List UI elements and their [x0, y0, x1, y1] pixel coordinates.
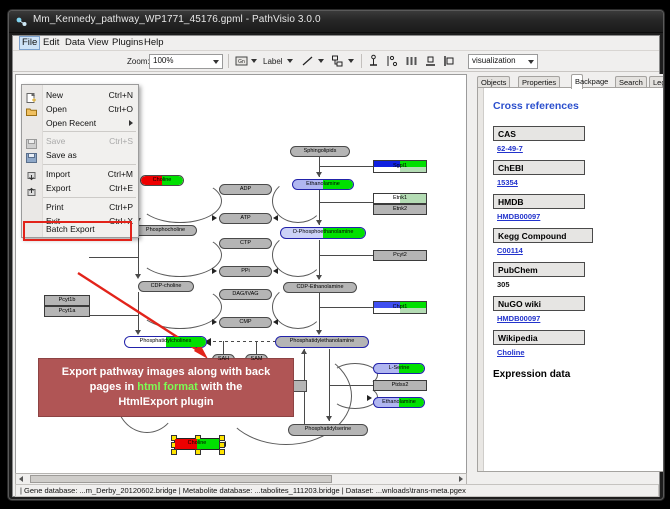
- menu-item-label: Open Recent: [46, 118, 96, 128]
- xref-source-pubchem: PubChem: [493, 262, 585, 277]
- node-phosphatidylserine[interactable]: Phosphatidylserine: [288, 424, 368, 436]
- cross-references-heading: Cross references: [493, 100, 664, 112]
- node-label: Pcyt1a: [59, 309, 76, 315]
- node-label: Choline: [153, 178, 172, 184]
- menu-item-label: Save: [46, 136, 65, 146]
- import-icon: [26, 169, 37, 179]
- arrow-down-icon: [316, 330, 322, 335]
- menu-view[interactable]: View: [85, 37, 111, 49]
- menu-item-shortcut: Ctrl+O: [108, 104, 133, 114]
- menu-item-shortcut: Ctrl+P: [109, 202, 133, 212]
- selection-handle[interactable]: [195, 449, 201, 455]
- interaction-icon[interactable]: [331, 54, 344, 68]
- menu-item-label: Save as: [46, 150, 77, 160]
- menu-item-shortcut: Ctrl+N: [109, 90, 133, 100]
- xref-value-hmdb[interactable]: HMDB00097: [497, 212, 664, 221]
- menu-item-shortcut: Ctrl+S: [109, 136, 133, 146]
- new-file-icon: [26, 90, 37, 100]
- pathvisio-app-icon: [15, 15, 28, 28]
- folder-icon: [26, 104, 37, 114]
- distribute-horizontal-icon[interactable]: [405, 54, 418, 68]
- xref-source-cas: CAS: [493, 126, 585, 141]
- node-ctp[interactable]: CTP: [219, 238, 272, 249]
- toolbar-separator: [228, 54, 229, 68]
- chevron-down-icon: [213, 60, 219, 64]
- edge-etnk: [319, 202, 373, 203]
- xref-value-nugo[interactable]: HMDB00097: [497, 314, 664, 323]
- node-phosphocholine[interactable]: Phosphocholine: [134, 225, 197, 236]
- node-ethanolamine-2[interactable]: Ethanolamine: [373, 397, 425, 408]
- node-label: Phosphatidylcholines: [140, 339, 192, 345]
- callout-line-2: pages in html format with the: [90, 380, 243, 395]
- selection-handle[interactable]: [219, 435, 225, 441]
- xref-value-kegg[interactable]: C00114: [497, 246, 664, 255]
- node-label: PPi: [241, 269, 250, 275]
- scroll-right-arrow-icon[interactable]: [459, 476, 463, 482]
- export-icon: [26, 183, 37, 193]
- edge-sgpl1: [319, 166, 373, 167]
- node-sphingolipids[interactable]: Sphingolipids: [290, 146, 350, 157]
- xref-source-wikipedia: Wikipedia: [493, 330, 585, 345]
- svg-text:Gn: Gn: [238, 59, 245, 65]
- menu-edit[interactable]: Edit: [40, 37, 62, 49]
- node-etnk1[interactable]: Etnk1: [373, 193, 427, 204]
- side-panel-tabs: Objects Properties Backpage Search Legen…: [477, 74, 664, 88]
- status-bar: | Gene database: ...m_Derby_20120602.bri…: [15, 484, 659, 497]
- loop-right-2: [272, 233, 324, 277]
- node-label: SAH: [218, 357, 229, 363]
- toolbar-separator: [361, 54, 362, 68]
- menu-item-label: Export: [46, 183, 71, 193]
- node-label: ATP: [240, 216, 250, 222]
- node-ethanolamine[interactable]: Ethanolamine: [292, 179, 354, 190]
- menu-item-open[interactable]: Open Ctrl+O: [22, 102, 138, 116]
- label-dropdown-arrow[interactable]: [287, 59, 293, 63]
- interaction-dropdown-arrow[interactable]: [348, 59, 354, 63]
- node-label: Etnk2: [393, 207, 407, 213]
- xref-source-chebi: ChEBI: [493, 160, 585, 175]
- chevron-down-icon: [528, 60, 534, 64]
- arrow-down-icon: [316, 172, 322, 177]
- node-label: ADP: [240, 187, 251, 193]
- node-l-serine[interactable]: L-Serine: [373, 363, 425, 374]
- node-label: L-Serine: [389, 366, 410, 372]
- callout-line2-after: with the: [198, 381, 243, 393]
- datanode-icon[interactable]: Gn: [235, 54, 248, 68]
- menu-item-export[interactable]: Export Ctrl+E: [22, 181, 138, 195]
- node-label: SAM: [251, 357, 263, 363]
- selection-handle[interactable]: [171, 449, 177, 455]
- side-panel: Objects Properties Backpage Search Legen…: [471, 74, 664, 472]
- menu-item-label: Open: [46, 104, 67, 114]
- callout-line-1: Export pathway images along with back: [62, 365, 270, 380]
- menu-item-label: New: [46, 90, 63, 100]
- menu-item-open-recent[interactable]: Open Recent: [22, 116, 138, 130]
- zoom-combobox[interactable]: 100%: [149, 54, 223, 69]
- node-cdp-ethanolamine[interactable]: CDP-Ethanolamine: [283, 282, 357, 293]
- menu-item-save-as[interactable]: Save as: [22, 148, 138, 162]
- backpage-content: Cross references CAS 62-49-7 ChEBI 15354…: [485, 88, 664, 471]
- menu-item-print[interactable]: Print Ctrl+P: [22, 200, 138, 214]
- menu-file[interactable]: File: [19, 36, 40, 50]
- arrow-left-icon: [273, 268, 278, 274]
- annotation-callout: Export pathway images along with back pa…: [38, 358, 294, 417]
- status-text: | Gene database: ...m_Derby_20120602.bri…: [20, 486, 466, 495]
- selection-handle[interactable]: [219, 449, 225, 455]
- callout-highlight: html format: [137, 381, 198, 393]
- save-as-icon: [26, 150, 37, 160]
- node-pcyt2[interactable]: Pcyt2: [373, 250, 427, 261]
- node-label: CDP-choline: [151, 284, 182, 290]
- node-label: Chpt1: [393, 305, 408, 311]
- edge-chpt1: [319, 307, 373, 308]
- title-bar: Mm_Kennedy_pathway_WP1771_45176.gpml - P…: [9, 11, 663, 33]
- node-label: Sgpl1: [393, 164, 407, 170]
- backpage-scrollbar[interactable]: [478, 88, 484, 471]
- menu-item-shortcut: Ctrl+E: [109, 183, 133, 193]
- zoom-value: 100%: [153, 56, 173, 65]
- node-choline-selected[interactable]: Choline: [174, 438, 220, 450]
- label-tool-label: Label: [263, 57, 283, 66]
- xref-source-kegg: Kegg Compound: [493, 228, 593, 243]
- node-ptdss2[interactable]: Ptdss2: [373, 380, 427, 391]
- arrow-left-icon: [273, 215, 278, 221]
- edge-pcyt2: [319, 255, 373, 256]
- node-label: Etnk1: [393, 196, 407, 202]
- selection-handle[interactable]: [219, 442, 225, 448]
- node-sgpl1[interactable]: Sgpl1: [373, 160, 427, 173]
- node-label: Pcyt2: [393, 253, 407, 259]
- datanode-dropdown-arrow[interactable]: [251, 59, 257, 63]
- screenshot-root: Mm_Kennedy_pathway_WP1771_45176.gpml - P…: [0, 0, 670, 509]
- arrow-down-icon: [316, 275, 322, 280]
- node-ppi[interactable]: PPi: [219, 266, 272, 277]
- callout-line-3: HtmlExport plugin: [118, 395, 213, 410]
- menu-item-save: Save Ctrl+S: [22, 134, 138, 148]
- xref-source-hmdb: HMDB: [493, 194, 585, 209]
- callout-line2-before: pages in: [90, 381, 138, 393]
- arrow-right-icon: [212, 215, 217, 221]
- edge-cofactor: [89, 257, 138, 258]
- backpage-panel: Cross references CAS 62-49-7 ChEBI 15354…: [477, 87, 664, 472]
- tab-backpage[interactable]: Backpage: [571, 74, 583, 89]
- line-icon[interactable]: [301, 54, 314, 68]
- visualization-combobox[interactable]: visualization: [468, 54, 538, 69]
- node-label: O-Phosphoethanolamine: [293, 230, 354, 236]
- node-label: CTP: [240, 241, 251, 247]
- save-icon: [26, 136, 37, 146]
- menu-separator: [43, 197, 136, 198]
- node-o-phosphoethanolamine[interactable]: O-Phosphoethanolamine: [280, 227, 366, 239]
- arrow-right-icon: [367, 395, 372, 401]
- node-etnk2[interactable]: Etnk2: [373, 204, 427, 215]
- window-title: Mm_Kennedy_pathway_WP1771_45176.gpml - P…: [33, 14, 321, 25]
- zoom-label: Zoom:: [127, 57, 150, 66]
- menu-item-new[interactable]: New Ctrl+N: [22, 88, 138, 102]
- pathvisio-window: Mm_Kennedy_pathway_WP1771_45176.gpml - P…: [8, 10, 664, 500]
- line-dropdown-arrow[interactable]: [318, 59, 324, 63]
- align-top-icon[interactable]: [367, 54, 380, 68]
- stack-left-icon[interactable]: [443, 54, 456, 68]
- menu-item-label: Import: [46, 169, 70, 179]
- hscroll-thumb[interactable]: [30, 475, 332, 483]
- arrow-down-icon: [316, 220, 322, 225]
- xref-value-pubchem: 305: [497, 280, 664, 289]
- node-label: DAG/IVAG: [232, 292, 258, 298]
- visualization-value: visualization: [472, 56, 516, 65]
- xref-value-chebi[interactable]: 15354: [497, 178, 664, 187]
- align-left-icon[interactable]: [386, 54, 399, 68]
- xref-value-wikipedia[interactable]: Choline: [497, 348, 664, 357]
- reaction-anchor: [292, 380, 307, 392]
- tool-bar: Zoom: 100% Gn Label: [13, 51, 659, 72]
- menu-item-shortcut: Ctrl+M: [108, 169, 133, 179]
- menu-help[interactable]: Help: [141, 37, 167, 49]
- batch-export-highlight: [23, 221, 132, 241]
- node-phosphatidylethanolamine[interactable]: Phosphatidylethanolamine: [275, 336, 369, 348]
- node-label: CDP-Ethanolamine: [296, 285, 343, 291]
- node-adp[interactable]: ADP: [219, 184, 272, 195]
- node-atp[interactable]: ATP: [219, 213, 272, 224]
- distribute-vertical-icon[interactable]: [424, 54, 437, 68]
- node-choline[interactable]: Choline: [140, 175, 184, 186]
- node-dag[interactable]: DAG/IVAG: [219, 289, 272, 300]
- node-label: Phosphatidylethanolamine: [290, 339, 355, 345]
- arrow-left-icon: [273, 319, 278, 325]
- node-label: Phosphocholine: [146, 228, 185, 234]
- node-label: Choline: [188, 441, 207, 447]
- node-cmp[interactable]: CMP: [219, 317, 272, 328]
- node-label: Ethanolamine: [382, 400, 416, 406]
- node-label: CMP: [239, 320, 251, 326]
- file-menu-dropdown[interactable]: New Ctrl+N Open Ctrl+O Open Recent: [21, 84, 139, 238]
- node-label: Pcyt1b: [59, 298, 76, 304]
- node-label: Sphingolipids: [304, 149, 337, 155]
- menu-item-label: Print: [46, 202, 63, 212]
- node-label: Phosphatidylserine: [305, 427, 351, 433]
- node-chpt1[interactable]: Chpt1: [373, 301, 427, 314]
- xref-value-cas[interactable]: 62-49-7: [497, 144, 664, 153]
- menu-item-import[interactable]: Import Ctrl+M: [22, 167, 138, 181]
- xref-source-nugo: NuGO wiki: [493, 296, 585, 311]
- scroll-left-arrow-icon[interactable]: [19, 476, 23, 482]
- node-label: Ethanolamine: [306, 182, 340, 188]
- expression-data-heading: Expression data: [493, 369, 664, 380]
- window-client-area: File Edit Data View Plugins Help Zoom: 1…: [12, 35, 660, 497]
- node-label: Ptdss2: [392, 383, 409, 389]
- menu-separator: [43, 164, 136, 165]
- menu-separator: [43, 131, 136, 132]
- menu-bar: File Edit Data View Plugins Help: [13, 36, 659, 51]
